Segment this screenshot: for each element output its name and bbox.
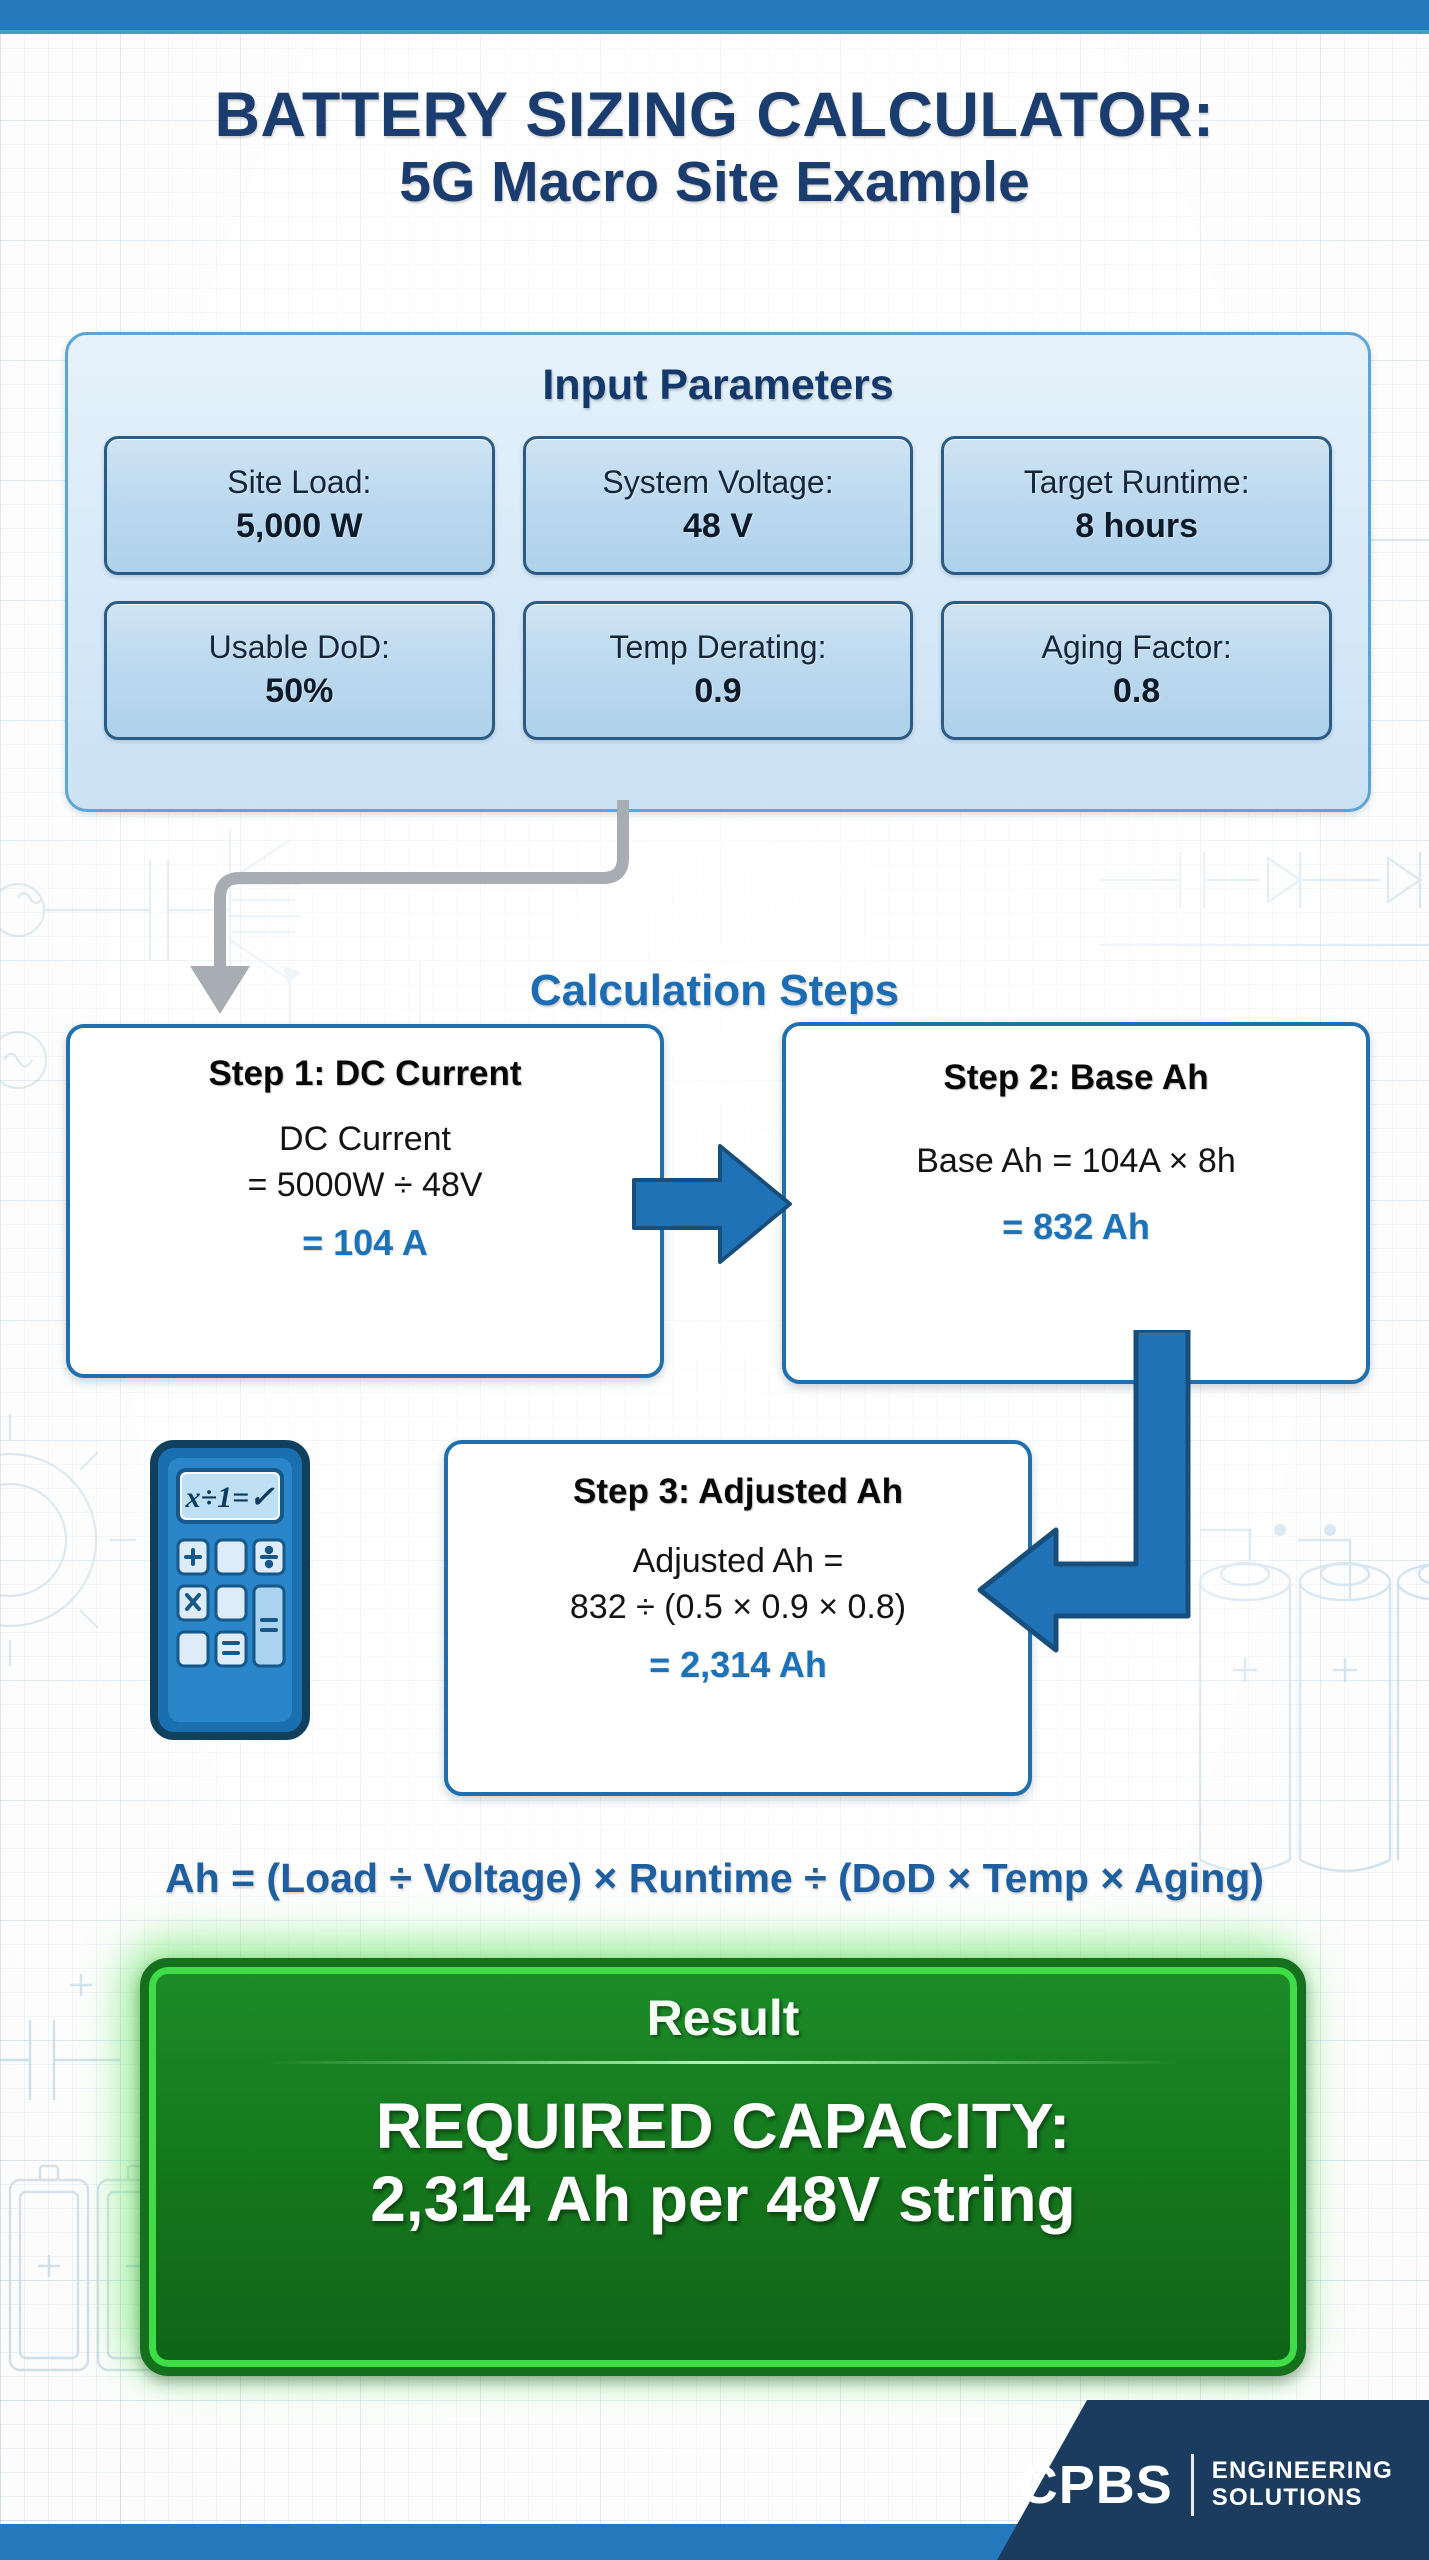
calculation-steps-heading: Calculation Steps [0, 966, 1429, 1016]
top-accent-underline [0, 30, 1429, 34]
result-divider [268, 2061, 1178, 2064]
step-result: = 832 Ah [1002, 1206, 1150, 1248]
result-main: REQUIRED CAPACITY: 2,314 Ah per 48V stri… [149, 2090, 1297, 2236]
result-line-2: 2,314 Ah per 48V string [149, 2163, 1297, 2236]
param-label: Usable DoD: [209, 630, 390, 666]
param-value: 5,000 W [236, 507, 363, 546]
param-label: Target Runtime: [1024, 465, 1250, 501]
param-card-aging-factor: Aging Factor: 0.8 [941, 601, 1332, 740]
param-card-site-load: Site Load: 5,000 W [104, 436, 495, 575]
input-parameters-grid: Site Load: 5,000 W System Voltage: 48 V … [104, 436, 1332, 740]
step-1-dc-current-box: Step 1: DC Current DC Current = 5000W ÷ … [66, 1024, 664, 1378]
top-accent-band [0, 0, 1429, 30]
step-result: = 104 A [302, 1222, 428, 1264]
param-card-usable-dod: Usable DoD: 50% [104, 601, 495, 740]
brand-tagline: ENGINEERING SOLUTIONS [1212, 2458, 1393, 2512]
footer-logo: CPBS ENGINEERING SOLUTIONS [1019, 2454, 1393, 2516]
param-value: 8 hours [1075, 507, 1198, 546]
result-line-1: REQUIRED CAPACITY: [149, 2090, 1297, 2163]
param-label: System Voltage: [602, 465, 833, 501]
step-result: = 2,314 Ah [649, 1644, 827, 1686]
param-value: 0.9 [694, 672, 741, 711]
step-body-line-1: Base Ah = 104A × 8h [916, 1138, 1236, 1184]
param-value: 48 V [683, 507, 753, 546]
brand-tagline-line-2: SOLUTIONS [1212, 2485, 1393, 2512]
formula-summary-line: Ah = (Load ÷ Voltage) × Runtime ÷ (DoD ×… [0, 1855, 1429, 1902]
param-label: Site Load: [227, 465, 371, 501]
input-parameters-heading: Input Parameters [68, 361, 1368, 410]
result-label: Result [149, 1989, 1297, 2047]
calculator-icon: x÷1=✓ [150, 1440, 310, 1740]
step-title: Step 2: Base Ah [943, 1058, 1208, 1098]
brand-divider [1191, 2454, 1194, 2516]
step-title: Step 1: DC Current [208, 1054, 521, 1094]
param-value: 50% [265, 672, 333, 711]
step-body-line-2: = 5000W ÷ 48V [247, 1162, 482, 1208]
page-title: BATTERY SIZING CALCULATOR: 5G Macro Site… [0, 82, 1429, 216]
step-body-line-2: 832 ÷ (0.5 × 0.9 × 0.8) [570, 1584, 906, 1630]
title-line-2: 5G Macro Site Example [0, 149, 1429, 216]
brand-name: CPBS [1019, 2454, 1173, 2516]
param-label: Temp Derating: [610, 630, 827, 666]
step-body-line-1: DC Current [279, 1116, 451, 1162]
svg-text:x÷1=✓: x÷1=✓ [185, 1481, 276, 1514]
arrow-step1-to-step2-icon [624, 1124, 800, 1284]
result-box: Result REQUIRED CAPACITY: 2,314 Ah per 4… [140, 1958, 1306, 2376]
brand-tagline-line-1: ENGINEERING [1212, 2458, 1393, 2485]
param-label: Aging Factor: [1042, 630, 1232, 666]
step-body-line-1: Adjusted Ah = [633, 1538, 844, 1584]
param-value: 0.8 [1113, 672, 1160, 711]
input-parameters-panel: Input Parameters Site Load: 5,000 W Syst… [65, 332, 1371, 812]
step-title: Step 3: Adjusted Ah [573, 1472, 903, 1512]
step-3-adjusted-ah-box: Step 3: Adjusted Ah Adjusted Ah = 832 ÷ … [444, 1440, 1032, 1796]
title-line-1: BATTERY SIZING CALCULATOR: [0, 82, 1429, 149]
param-card-system-voltage: System Voltage: 48 V [523, 436, 914, 575]
param-card-temp-derating: Temp Derating: 0.9 [523, 601, 914, 740]
arrow-step2-to-step3-icon [960, 1330, 1240, 1660]
param-card-target-runtime: Target Runtime: 8 hours [941, 436, 1332, 575]
